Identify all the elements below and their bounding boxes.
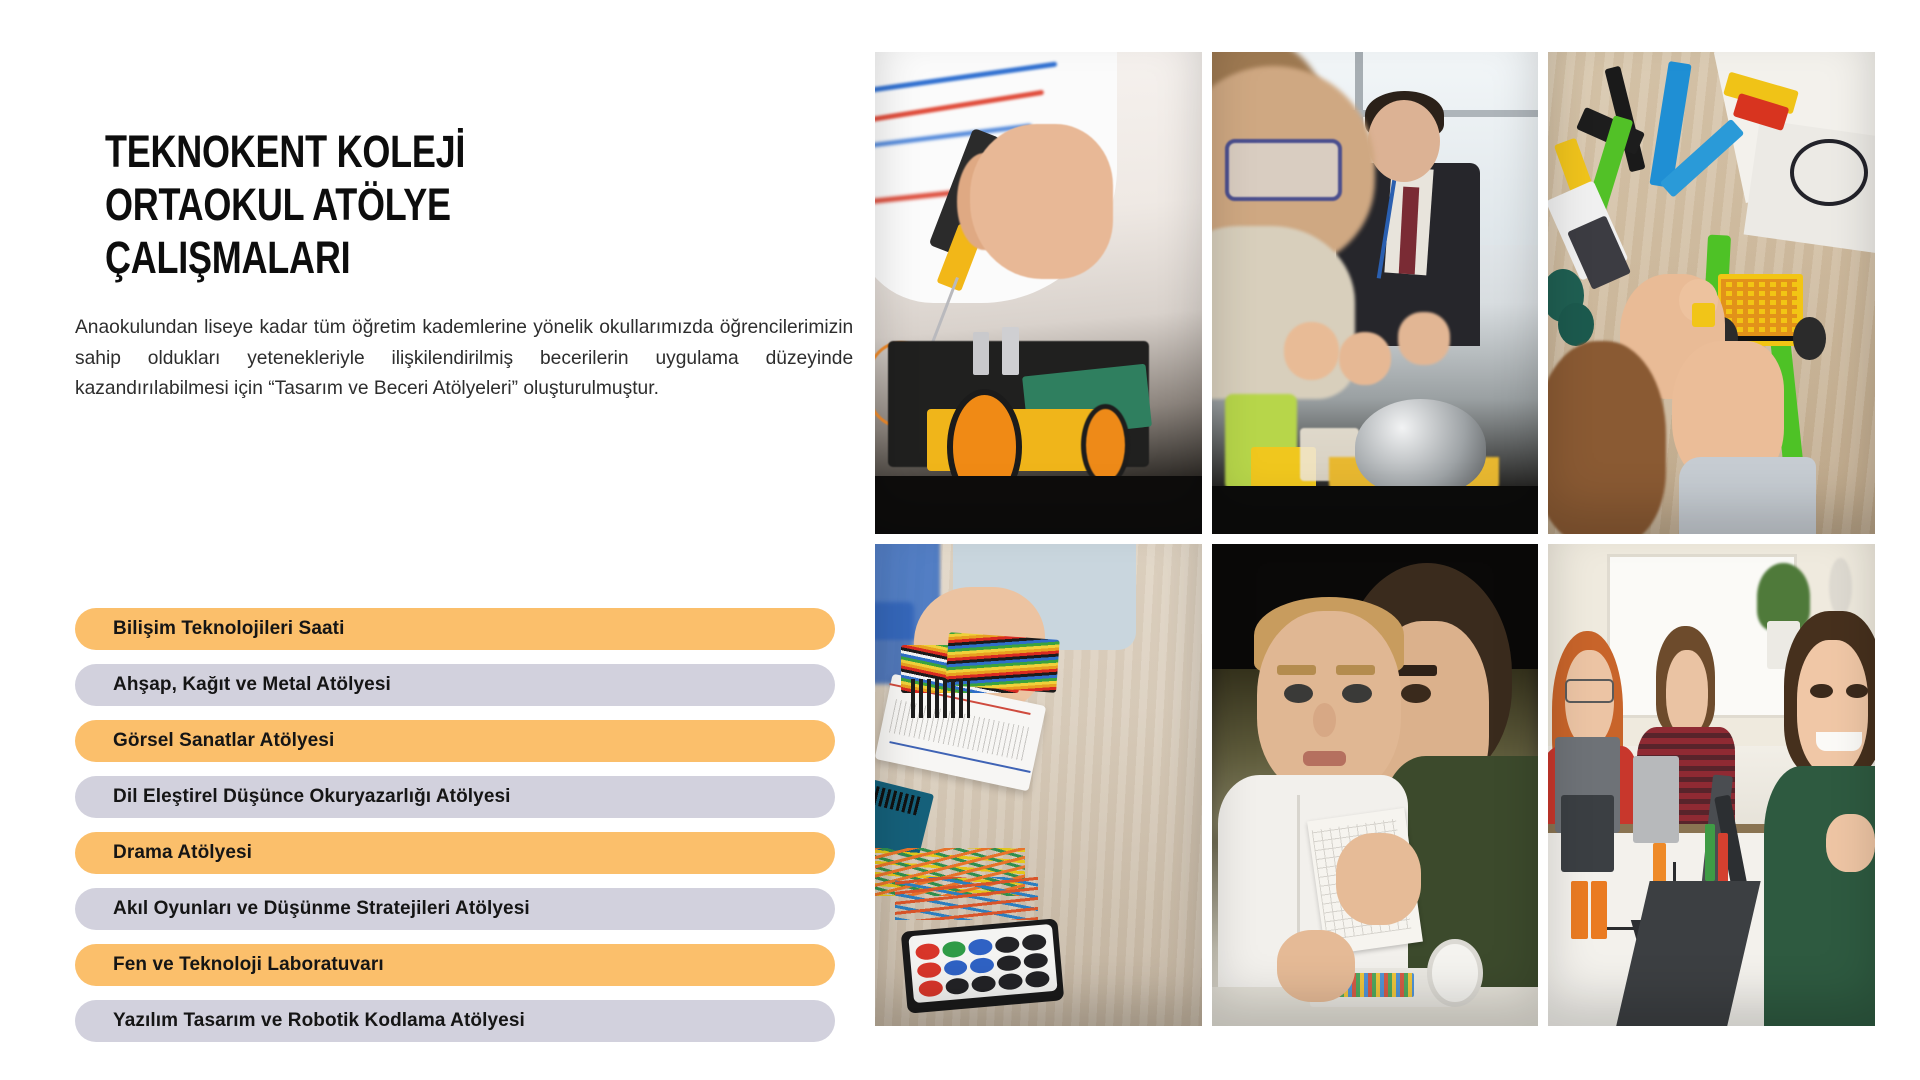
left-content-panel: TEKNOKENT KOLEJİ ORTAOKUL ATÖLYE ÇALIŞMA… bbox=[105, 0, 835, 1080]
workshop-item-drama-atolyesi[interactable]: Drama Atölyesi bbox=[75, 832, 835, 874]
workshop-item-label: Akıl Oyunları ve Düşünme Stratejileri At… bbox=[113, 898, 530, 920]
intro-paragraph: Anaokulundan liseye kadar tüm öğretim ka… bbox=[75, 312, 853, 404]
photo-grid bbox=[875, 52, 1875, 1026]
workshop-item-label: Bilişim Teknolojileri Saati bbox=[113, 618, 344, 640]
workshop-item-label: Fen ve Teknoloji Laboratuvarı bbox=[113, 954, 384, 976]
photo-classroom-robotics bbox=[1548, 544, 1875, 1026]
workshop-list: Bilişim Teknolojileri Saati Ahşap, Kağıt… bbox=[75, 608, 835, 1042]
workshop-item-label: Görsel Sanatlar Atölyesi bbox=[113, 730, 334, 752]
workshop-item-label: Drama Atölyesi bbox=[113, 842, 252, 864]
workshop-item-ahsap-kagit-metal-atolyesi[interactable]: Ahşap, Kağıt ve Metal Atölyesi bbox=[75, 664, 835, 706]
workshop-item-dil-elestirel-dusunce-okuryazarligi-atolyesi[interactable]: Dil Eleştirel Düşünce Okuryazarlığı Atöl… bbox=[75, 776, 835, 818]
workshop-item-label: Ahşap, Kağıt ve Metal Atölyesi bbox=[113, 674, 391, 696]
workshop-item-fen-ve-teknoloji-laboratuvari[interactable]: Fen ve Teknoloji Laboratuvarı bbox=[75, 944, 835, 986]
photo-lego-technic-build bbox=[1548, 52, 1875, 534]
workshop-item-bilisim-teknolojileri-saati[interactable]: Bilişim Teknolojileri Saati bbox=[75, 608, 835, 650]
workshop-item-yazilim-tasarim-robotik-kodlama-atolyesi[interactable]: Yazılım Tasarım ve Robotik Kodlama Atöly… bbox=[75, 1000, 835, 1042]
workshop-item-akil-oyunlari-dusunme-stratejileri-atolyesi[interactable]: Akıl Oyunları ve Düşünme Stratejileri At… bbox=[75, 888, 835, 930]
slide-canvas: TEKNOKENT KOLEJİ ORTAOKUL ATÖLYE ÇALIŞMA… bbox=[0, 0, 1920, 1080]
workshop-item-label: Dil Eleştirel Düşünce Okuryazarlığı Atöl… bbox=[113, 786, 511, 808]
photo-robot-car-screwdriver bbox=[875, 52, 1202, 534]
photo-two-boys-experiment bbox=[1212, 544, 1539, 1026]
photo-breadboard-arduino bbox=[875, 544, 1202, 1026]
photo-teacher-and-student bbox=[1212, 52, 1539, 534]
workshop-item-gorsel-sanatlar-atolyesi[interactable]: Görsel Sanatlar Atölyesi bbox=[75, 720, 835, 762]
workshop-item-label: Yazılım Tasarım ve Robotik Kodlama Atöly… bbox=[113, 1010, 525, 1032]
page-title: TEKNOKENT KOLEJİ ORTAOKUL ATÖLYE ÇALIŞMA… bbox=[105, 125, 665, 284]
